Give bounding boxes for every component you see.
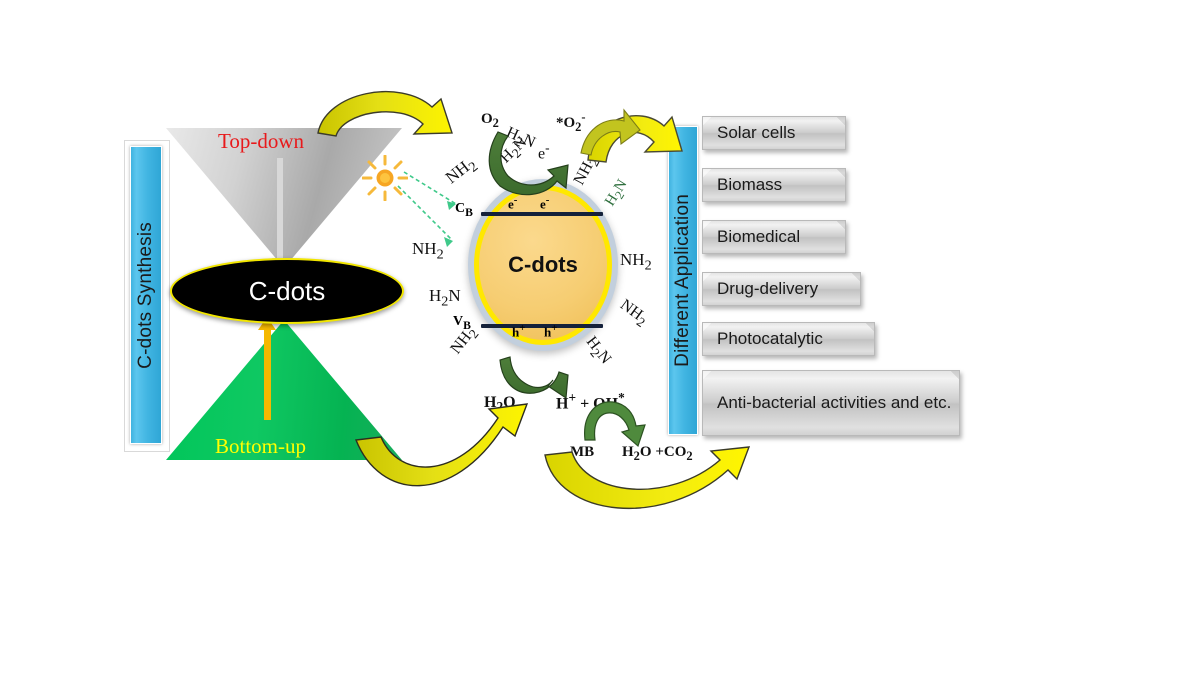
- application-box-solar-cells[interactable]: Solar cells: [702, 116, 846, 150]
- electron-reaction-label: e-: [538, 140, 550, 163]
- application-label: Drug-delivery: [717, 278, 818, 301]
- arrow-superoxide-out: [581, 110, 640, 155]
- oxygen-reactant-label: O2: [481, 111, 499, 131]
- nh2-left: NH2: [412, 239, 444, 263]
- c-dots-product-ellipse: C-dots: [170, 258, 404, 324]
- superoxide-product-label: *O2-: [556, 110, 586, 135]
- bottom-up-label: Bottom-up: [215, 434, 306, 459]
- electron-carrier-2: e-: [540, 194, 549, 212]
- mb-dye-label: MB: [570, 444, 594, 461]
- application-box-anti-bacterial[interactable]: Anti-bacterial activities and etc.: [702, 370, 960, 436]
- valence-band-line: [481, 324, 603, 328]
- nh2-right: NH2: [620, 250, 652, 274]
- application-label: Biomedical: [717, 226, 800, 249]
- sun-icon: [362, 155, 408, 201]
- application-box-drug-delivery[interactable]: Drug-delivery: [702, 272, 861, 306]
- mineralisation-product-label: H2O +CO2: [622, 444, 693, 464]
- water-reactant-label: H2O: [484, 394, 516, 415]
- radical-product-label: H+ + OH*: [556, 390, 625, 413]
- conduction-band-label: CB: [455, 201, 473, 219]
- top-down-arrow-icon: [277, 158, 283, 258]
- application-axis-bar: Different Application: [668, 126, 698, 435]
- bottom-up-arrow-icon: [264, 330, 271, 420]
- application-box-photocatalytic[interactable]: Photocatalytic: [702, 322, 875, 356]
- hole-carrier-2: h+: [544, 322, 557, 340]
- electron-carrier-1: e-: [508, 194, 517, 212]
- nh2-upper-right: NH2: [571, 153, 604, 189]
- synthesis-axis-label: C-dots Synthesis: [135, 222, 157, 369]
- application-label: Anti-bacterial activities and etc.: [717, 392, 951, 415]
- top-down-label: Top-down: [218, 129, 304, 154]
- application-label: Solar cells: [717, 122, 795, 145]
- diagram-canvas: C-dots Synthesis Top-down Bottom-up C-do…: [0, 0, 1200, 675]
- application-label: Photocatalytic: [717, 328, 823, 351]
- application-box-biomedical[interactable]: Biomedical: [702, 220, 846, 254]
- nh2-lower-right: NH2: [615, 296, 652, 331]
- hole-carrier-1: h+: [512, 322, 525, 340]
- h2n-left: H2N: [429, 286, 461, 310]
- synthesis-axis-bar: C-dots Synthesis: [130, 146, 162, 444]
- application-box-biomass[interactable]: Biomass: [702, 168, 846, 202]
- application-axis-label: Different Application: [672, 194, 694, 367]
- conduction-band-line: [481, 212, 603, 216]
- nh2-upper-left: NH2: [442, 153, 482, 192]
- application-label: Biomass: [717, 174, 782, 197]
- c-dots-product-label: C-dots: [249, 276, 326, 307]
